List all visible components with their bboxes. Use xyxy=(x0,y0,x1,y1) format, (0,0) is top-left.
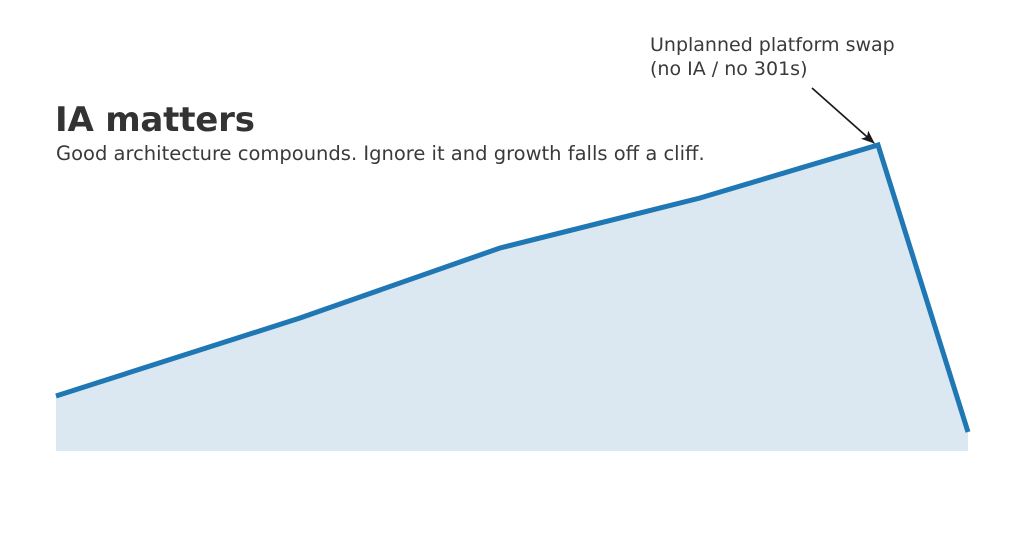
annotation-line-1: Unplanned platform swap xyxy=(650,34,895,56)
chart-canvas: IA matters Good architecture compounds. … xyxy=(0,0,1024,534)
page-title: IA matters xyxy=(55,100,255,140)
page-subtitle: Good architecture compounds. Ignore it a… xyxy=(56,142,705,165)
annotation-line-2: (no IA / no 301s) xyxy=(650,57,895,81)
annotation-arrow xyxy=(812,88,874,143)
annotation-label: Unplanned platform swap (no IA / no 301s… xyxy=(650,33,895,81)
area-fill-region xyxy=(56,145,968,451)
